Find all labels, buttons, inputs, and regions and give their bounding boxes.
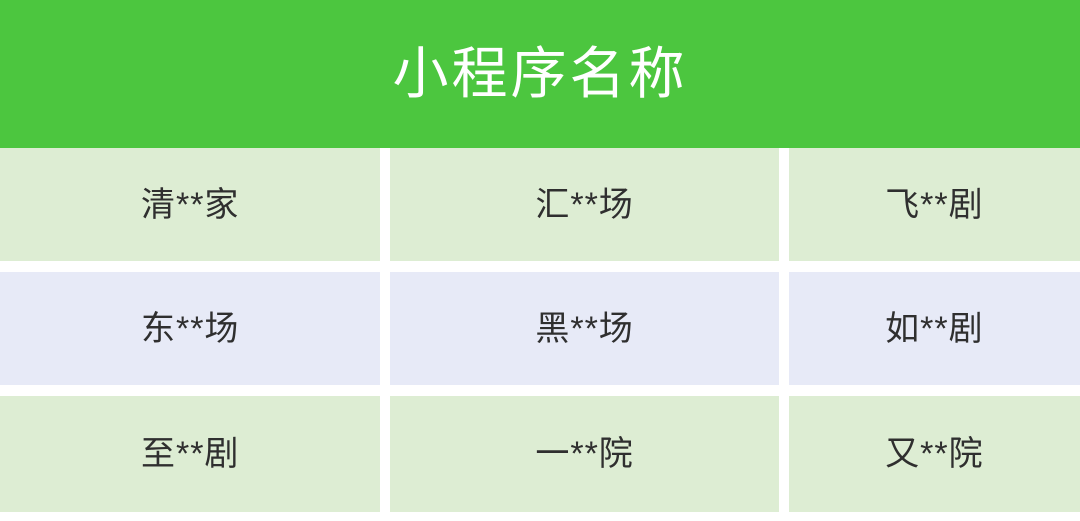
mini-program-name-grid: 清**家 汇**场 飞**剧 东**场 黑**场 如**剧 至**剧 bbox=[0, 148, 1080, 521]
table-cell[interactable]: 一**院 bbox=[390, 396, 778, 512]
table-cell-label: 东**场 bbox=[141, 312, 239, 346]
table-cell[interactable]: 飞**剧 bbox=[789, 148, 1080, 261]
table-cell-label: 黑**场 bbox=[535, 312, 633, 346]
table-cell[interactable]: 又**院 bbox=[789, 396, 1080, 512]
table-cell[interactable]: 如**剧 bbox=[789, 272, 1080, 385]
table-cell[interactable]: 东**场 bbox=[0, 272, 380, 385]
table-cell-label: 至**剧 bbox=[141, 437, 239, 471]
table-cell[interactable]: 黑**场 bbox=[390, 272, 778, 385]
mini-program-name-table-page: 小程序名称 清**家 汇**场 飞**剧 东**场 黑**场 如**剧 bbox=[0, 0, 1080, 521]
table-cell-label: 清**家 bbox=[141, 188, 239, 222]
table-cell-label: 又**院 bbox=[885, 437, 983, 471]
table-row: 东**场 黑**场 如**剧 bbox=[0, 272, 1080, 385]
table-cell[interactable]: 至**剧 bbox=[0, 396, 380, 512]
table-cell-label: 飞**剧 bbox=[885, 188, 983, 222]
table-cell[interactable]: 清**家 bbox=[0, 148, 380, 261]
table-cell-label: 汇**场 bbox=[535, 188, 633, 222]
table-cell[interactable]: 汇**场 bbox=[390, 148, 778, 261]
header-banner: 小程序名称 bbox=[0, 0, 1080, 148]
table-cell-label: 如**剧 bbox=[885, 312, 983, 346]
table-row: 清**家 汇**场 飞**剧 bbox=[0, 148, 1080, 261]
table-row: 至**剧 一**院 又**院 bbox=[0, 396, 1080, 512]
table-cell-label: 一**院 bbox=[535, 437, 633, 471]
page-title: 小程序名称 bbox=[393, 46, 688, 102]
